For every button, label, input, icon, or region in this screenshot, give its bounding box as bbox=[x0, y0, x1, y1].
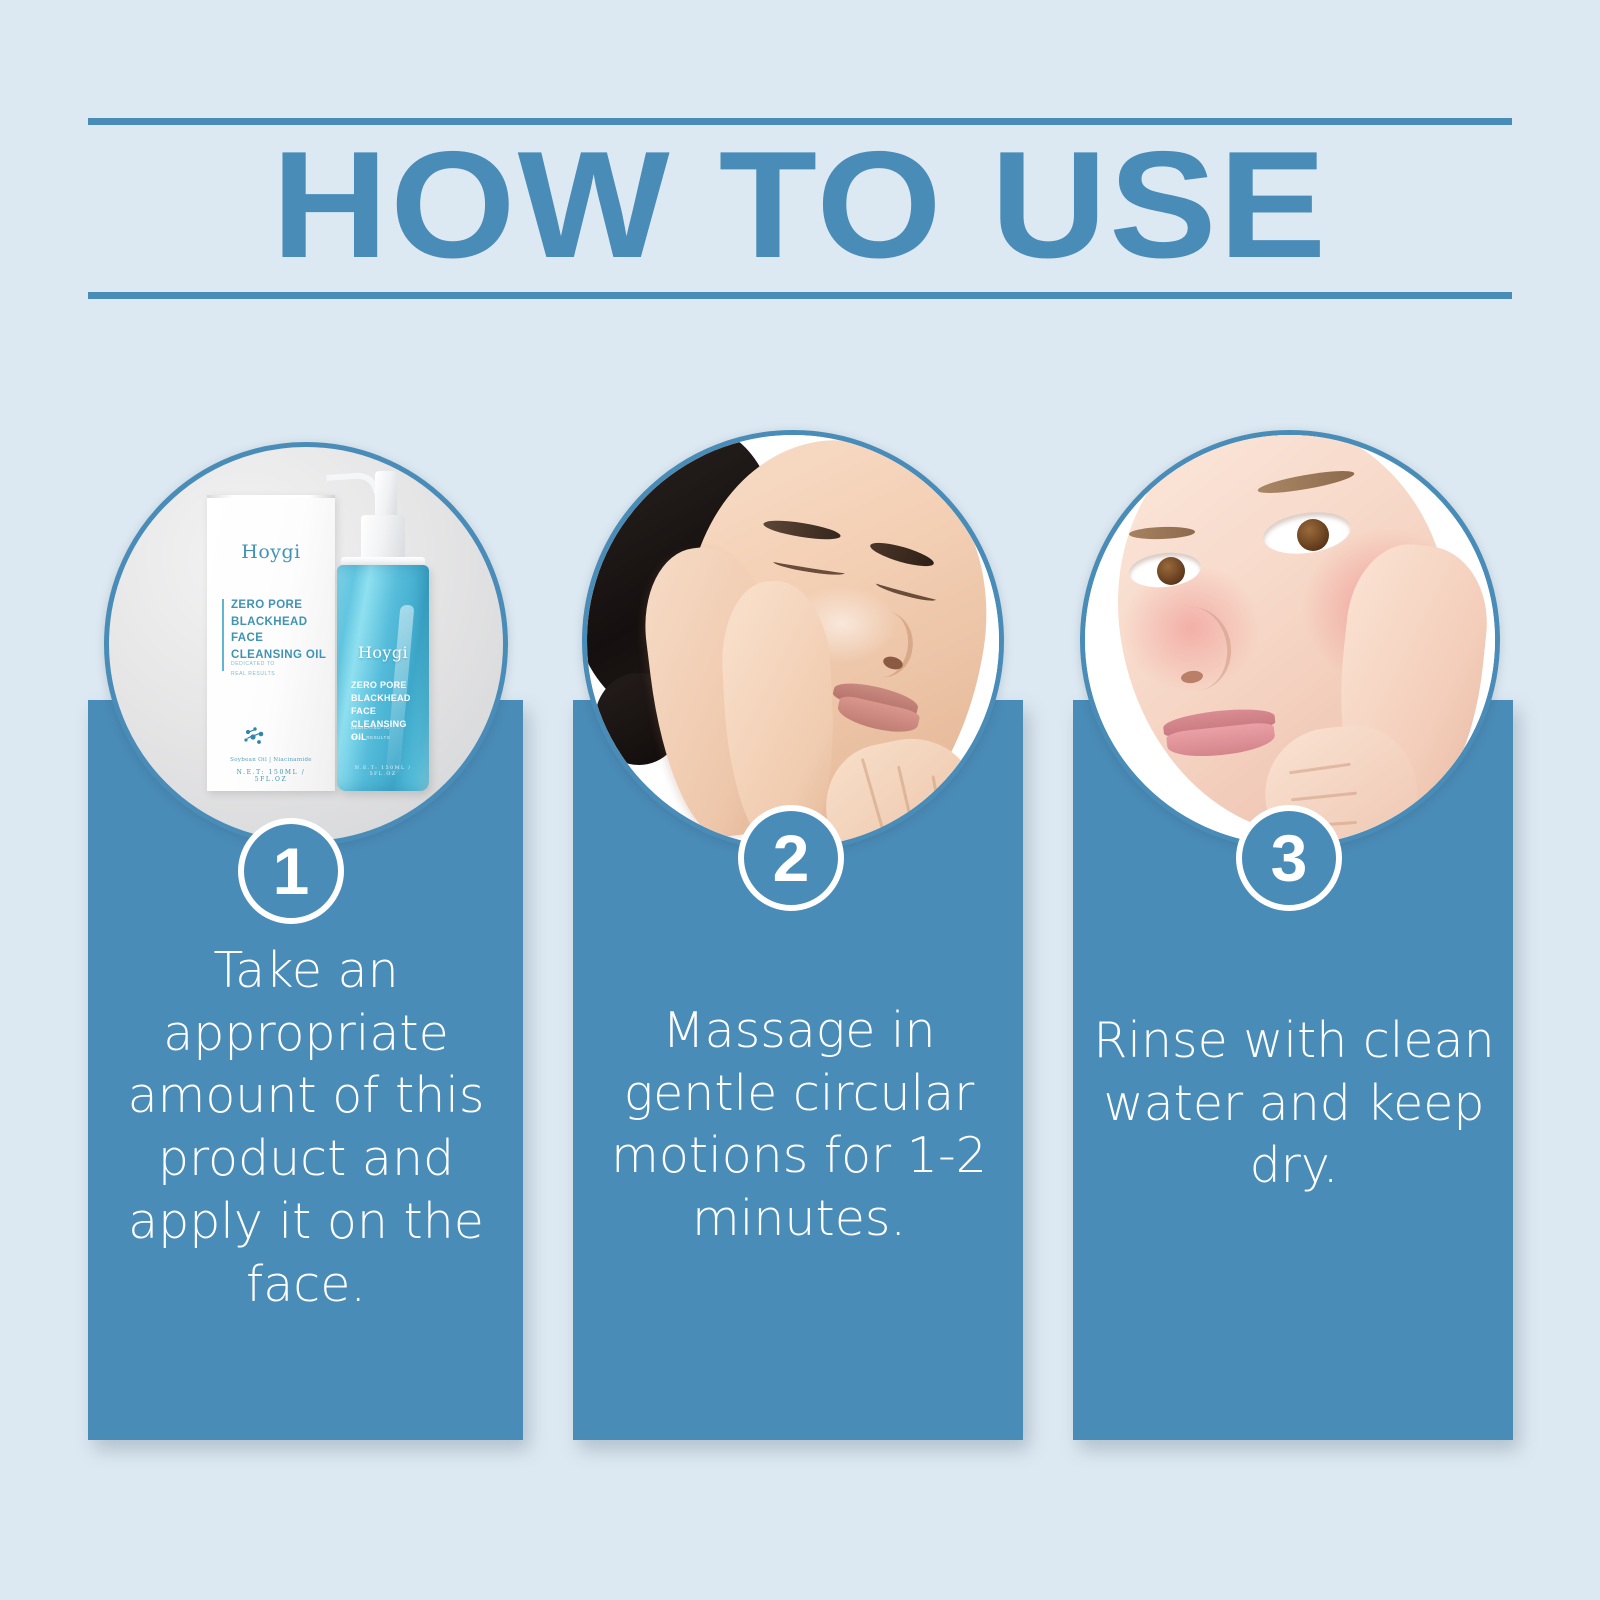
box-tagline-line1: DEDICATED TO bbox=[231, 659, 331, 670]
product-box: Hoygi ZERO PORE BLACKHEAD FACE CLEANSING… bbox=[207, 495, 335, 791]
bottle-body bbox=[337, 565, 429, 791]
step-3-caption: Rinse with clean water and keep dry. bbox=[1085, 1010, 1503, 1198]
model3-iris-left bbox=[1157, 557, 1185, 585]
step-2-number-badge: 2 bbox=[738, 805, 844, 911]
massage-scene bbox=[587, 435, 999, 847]
box-net-content: N.E.T: 150ML / 5FL.OZ bbox=[221, 769, 321, 783]
box-brand-logo: Hoygi bbox=[207, 541, 335, 563]
step-3-number-badge: 3 bbox=[1236, 805, 1342, 911]
infographic-root: HOW TO USE Hoygi ZERO PORE BLACKHEAD FAC… bbox=[0, 0, 1600, 1600]
step-1-image: Hoygi ZERO PORE BLACKHEAD FACE CLEANSING… bbox=[104, 442, 508, 846]
box-tagline-line2: REAL RESULTS bbox=[231, 669, 331, 680]
step-2-caption: Massage in gentle circular motions for 1… bbox=[585, 1000, 1013, 1251]
box-ingredients: Soybean Oil | Niacinamide bbox=[221, 757, 321, 763]
step-3-image bbox=[1080, 430, 1500, 850]
box-accent-bar bbox=[222, 599, 224, 671]
bottle-net-content: N.E.T: 150ML / 5FL.OZ bbox=[343, 765, 423, 777]
model3-iris-right bbox=[1297, 519, 1329, 551]
bottle-tagline-line2: REAL RESULTS bbox=[351, 733, 423, 742]
step-2-image bbox=[582, 430, 1004, 852]
box-product-name: ZERO PORE BLACKHEAD FACE CLEANSING OIL bbox=[231, 597, 331, 664]
bottle-tagline-line1: DEDICATED TO bbox=[351, 723, 423, 732]
bottle-spout bbox=[326, 471, 379, 497]
bottle-pump-cap bbox=[375, 471, 397, 521]
page-title: HOW TO USE bbox=[0, 118, 1600, 292]
product-scene: Hoygi ZERO PORE BLACKHEAD FACE CLEANSING… bbox=[109, 447, 503, 841]
step-1-caption: Take an appropriate amount of this produ… bbox=[100, 940, 512, 1316]
rinse-scene bbox=[1085, 435, 1495, 845]
bottle-brand-logo: Hoygi bbox=[337, 643, 429, 662]
box-top-edge bbox=[207, 495, 335, 498]
product-bottle: Hoygi ZERO PORE BLACKHEAD FACE CLEANSING… bbox=[337, 465, 429, 791]
molecule-icon bbox=[241, 725, 269, 749]
step-1-number-badge: 1 bbox=[238, 818, 344, 924]
bottle-neck bbox=[361, 515, 405, 561]
header-rule-bottom bbox=[88, 292, 1512, 299]
